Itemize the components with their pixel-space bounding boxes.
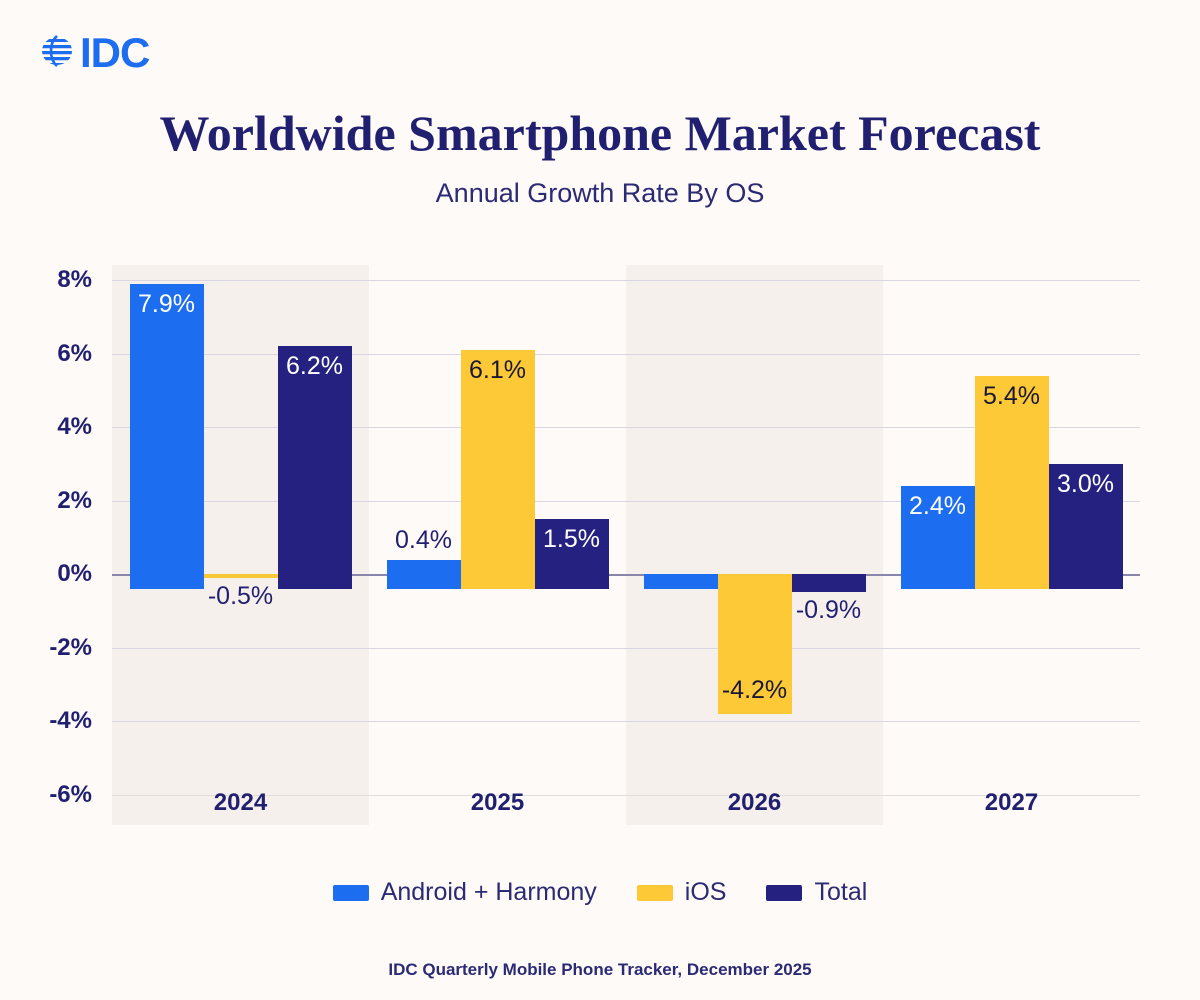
y-axis-tick: 2% [30,487,92,515]
bar-ios-2024[interactable] [204,574,278,577]
bar-value-label: 3.0% [1049,470,1123,499]
bar-value-label: -0.5% [204,582,278,611]
y-axis-tick: -2% [30,634,92,662]
x-axis-tick-2024: 2024 [112,789,369,817]
bar-value-label: 6.2% [278,352,352,381]
bar-value-label: 7.9% [130,290,204,319]
legend-swatch [766,885,802,901]
category-band [626,265,883,825]
bar-ios-2025[interactable] [461,350,535,589]
chart-page: IDC Worldwide Smartphone Market Forecast… [0,0,1200,1000]
legend-item-android-harmony[interactable]: Android + Harmony [333,878,597,907]
bar-value-label: -0.9% [792,596,866,625]
plot-area: 7.9%-0.5%6.2%0.4%6.1%1.5%-4.2%-0.9%2.4%5… [112,265,1140,825]
y-axis-tick: -6% [30,781,92,809]
gridline [112,721,1140,722]
y-axis-tick: 6% [30,340,92,368]
page-subtitle: Annual Growth Rate By OS [0,178,1200,209]
bar-value-label: 6.1% [461,356,535,385]
y-axis-tick: 4% [30,413,92,441]
bar-value-label: 2.4% [901,492,975,521]
page-title: Worldwide Smartphone Market Forecast [0,104,1200,162]
y-axis: 8%6%4%2%0%-2%-4%-6% [20,265,92,825]
bar-android-harmony-2024[interactable] [130,284,204,590]
legend-item-total[interactable]: Total [766,878,867,907]
y-axis-tick: 0% [30,560,92,588]
x-axis-tick-2027: 2027 [883,789,1140,817]
legend-label: Android + Harmony [381,878,597,907]
idc-logo: IDC [40,32,149,74]
idc-logo-text: IDC [80,32,149,74]
bar-value-label: -4.2% [718,676,792,705]
source-note: IDC Quarterly Mobile Phone Tracker, Dece… [0,960,1200,980]
legend-item-ios[interactable]: iOS [637,878,727,907]
gridline [112,280,1140,281]
bar-android-harmony-2025[interactable] [387,560,461,590]
y-axis-tick: -4% [30,707,92,735]
chart-legend: Android + HarmonyiOSTotal [0,878,1200,907]
x-axis-tick-2026: 2026 [626,789,883,817]
legend-swatch [637,885,673,901]
bar-total-2024[interactable] [278,346,352,589]
bar-android-harmony-2026[interactable] [644,574,718,589]
bar-value-label: 5.4% [975,382,1049,411]
bar-value-label: 1.5% [535,525,609,554]
y-axis-tick: 8% [30,266,92,294]
legend-label: iOS [685,878,727,907]
bar-total-2026[interactable] [792,574,866,592]
bar-value-label: 0.4% [387,526,461,555]
x-axis-tick-2025: 2025 [369,789,626,817]
globe-icon [40,33,74,74]
gridline [112,354,1140,355]
legend-swatch [333,885,369,901]
gridline [112,648,1140,649]
legend-label: Total [814,878,867,907]
